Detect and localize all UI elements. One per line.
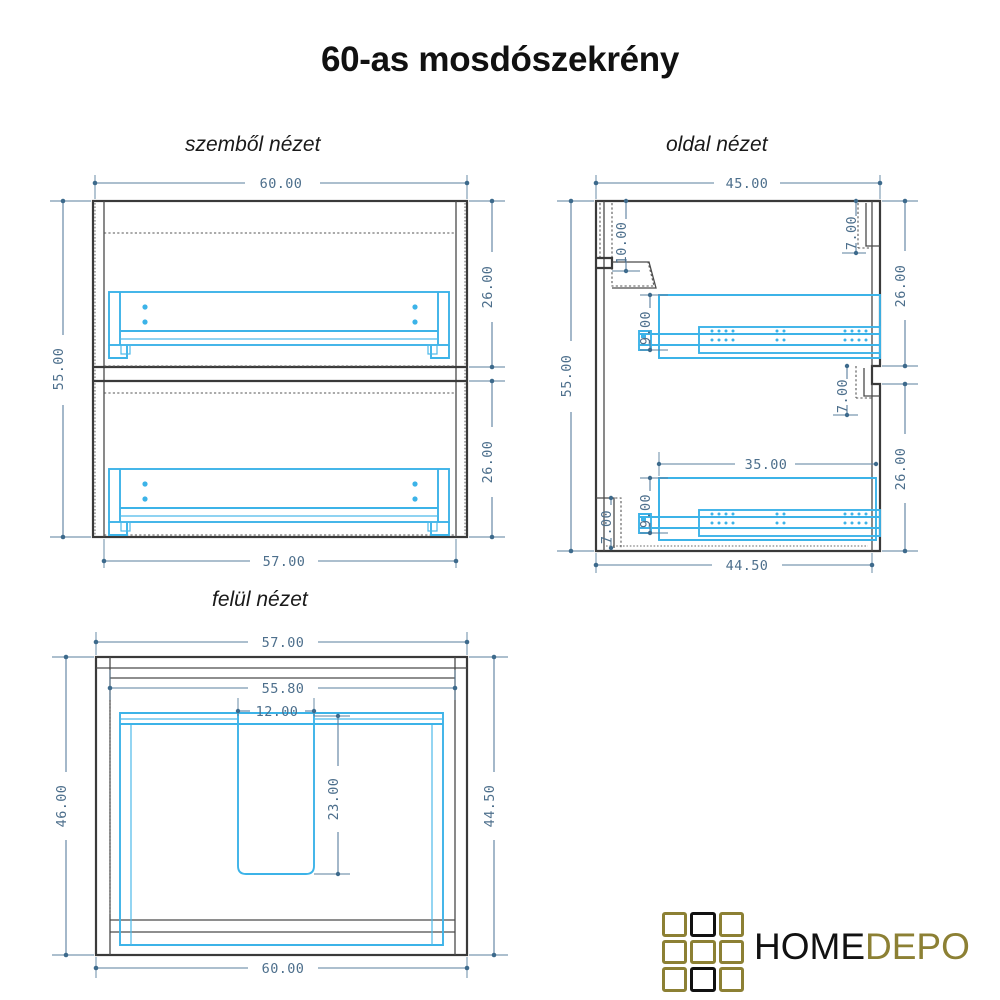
side-view-drawer-upper bbox=[639, 295, 880, 358]
front-view-drawer-upper bbox=[109, 292, 449, 358]
top-dim-cutout-width: 12.00 bbox=[236, 698, 316, 720]
dim-side-right-lower: 26.00 bbox=[893, 448, 909, 491]
top-dim-bottom-width: 60.00 bbox=[94, 957, 470, 978]
front-dim-left-height: 55.00 bbox=[50, 199, 91, 540]
top-view-body bbox=[96, 657, 467, 955]
side-dim-7-top: 7.00 bbox=[842, 199, 866, 255]
technical-drawing: .ol { fill:none; stroke:#3a3a3a; stroke-… bbox=[0, 0, 1000, 1000]
front-dim-bottom-width: 57.00 bbox=[102, 539, 459, 570]
dim-top-left-depth: 46.00 bbox=[54, 785, 70, 828]
dim-front-right-upper: 26.00 bbox=[480, 266, 496, 309]
front-view-body bbox=[93, 201, 467, 537]
dim-side-bottom-width: 44.50 bbox=[726, 558, 769, 574]
dim-side-top-width: 45.00 bbox=[726, 176, 769, 192]
logo-cell bbox=[719, 940, 744, 965]
side-dim-bottom-width: 44.50 bbox=[594, 553, 875, 574]
front-dim-right-lower: 26.00 bbox=[469, 379, 505, 540]
logo-cell bbox=[690, 912, 715, 937]
dim-side-9-lower: 9.00 bbox=[638, 494, 654, 528]
dim-side-9-upper: 9.00 bbox=[638, 311, 654, 345]
logo-cell bbox=[719, 967, 744, 992]
dim-front-top-width: 60.00 bbox=[260, 176, 303, 192]
logo-cell bbox=[719, 912, 744, 937]
side-dim-7-bottom: 7.00 bbox=[599, 496, 615, 550]
side-view-drawer-lower bbox=[639, 478, 880, 540]
front-dim-right-upper: 26.00 bbox=[469, 199, 505, 370]
top-dim-right-depth: 44.50 bbox=[469, 655, 508, 958]
dim-side-left-height: 55.00 bbox=[559, 355, 575, 398]
logo-text-home: HOME bbox=[754, 926, 865, 967]
dim-front-left-height: 55.00 bbox=[51, 348, 67, 391]
top-dim-left-depth: 46.00 bbox=[52, 655, 94, 958]
side-dim-left-height: 55.00 bbox=[557, 199, 594, 554]
dim-top-top-width: 57.00 bbox=[262, 635, 305, 651]
dim-side-35: 35.00 bbox=[745, 457, 788, 473]
side-dim-7-mid: 7.00 bbox=[833, 364, 858, 417]
logo-wordmark: HOMEDEPO bbox=[754, 926, 970, 968]
dim-side-right-upper: 26.00 bbox=[893, 265, 909, 308]
dim-front-right-lower: 26.00 bbox=[480, 441, 496, 484]
dim-front-bottom-width: 57.00 bbox=[263, 554, 306, 570]
dim-top-cutout-width: 12.00 bbox=[256, 704, 299, 720]
side-dim-right-upper: 26.00 bbox=[882, 199, 918, 369]
logo-grid-icon bbox=[662, 912, 744, 992]
side-dim-top-width: 45.00 bbox=[594, 175, 883, 199]
logo-cell bbox=[662, 912, 687, 937]
dim-side-7-mid: 7.00 bbox=[835, 379, 851, 413]
drawing-canvas: 60-as mosdószekrény szemből nézet oldal … bbox=[0, 0, 1000, 1000]
logo-cell bbox=[662, 967, 687, 992]
side-dim-right-lower: 26.00 bbox=[882, 382, 918, 554]
top-dim-cutout-depth: 23.00 bbox=[314, 714, 350, 876]
top-dim-top-width: 57.00 bbox=[94, 632, 470, 655]
dim-top-inner-width: 55.80 bbox=[262, 681, 305, 697]
dim-side-10: 10.00 bbox=[614, 222, 630, 265]
logo-cell bbox=[662, 940, 687, 965]
dim-side-7-top: 7.00 bbox=[844, 216, 860, 250]
dim-top-right-depth: 44.50 bbox=[482, 785, 498, 828]
side-dim-9-lower: 9.00 bbox=[638, 476, 668, 535]
front-dim-top-width: 60.00 bbox=[93, 175, 470, 199]
dim-top-bottom-width: 60.00 bbox=[262, 961, 305, 977]
side-dim-35: 35.00 bbox=[657, 452, 878, 476]
logo-cell bbox=[690, 967, 715, 992]
top-dim-inner-width: 55.80 bbox=[108, 670, 458, 700]
brand-logo: HOMEDEPO bbox=[662, 906, 992, 996]
dim-side-7-bottom: 7.00 bbox=[599, 510, 615, 544]
logo-text-depo: DEPO bbox=[865, 926, 970, 967]
front-view-drawer-lower bbox=[109, 469, 449, 535]
logo-cell bbox=[690, 940, 715, 965]
dim-top-cutout-depth: 23.00 bbox=[326, 778, 342, 821]
side-dim-9-upper: 9.00 bbox=[638, 293, 668, 352]
